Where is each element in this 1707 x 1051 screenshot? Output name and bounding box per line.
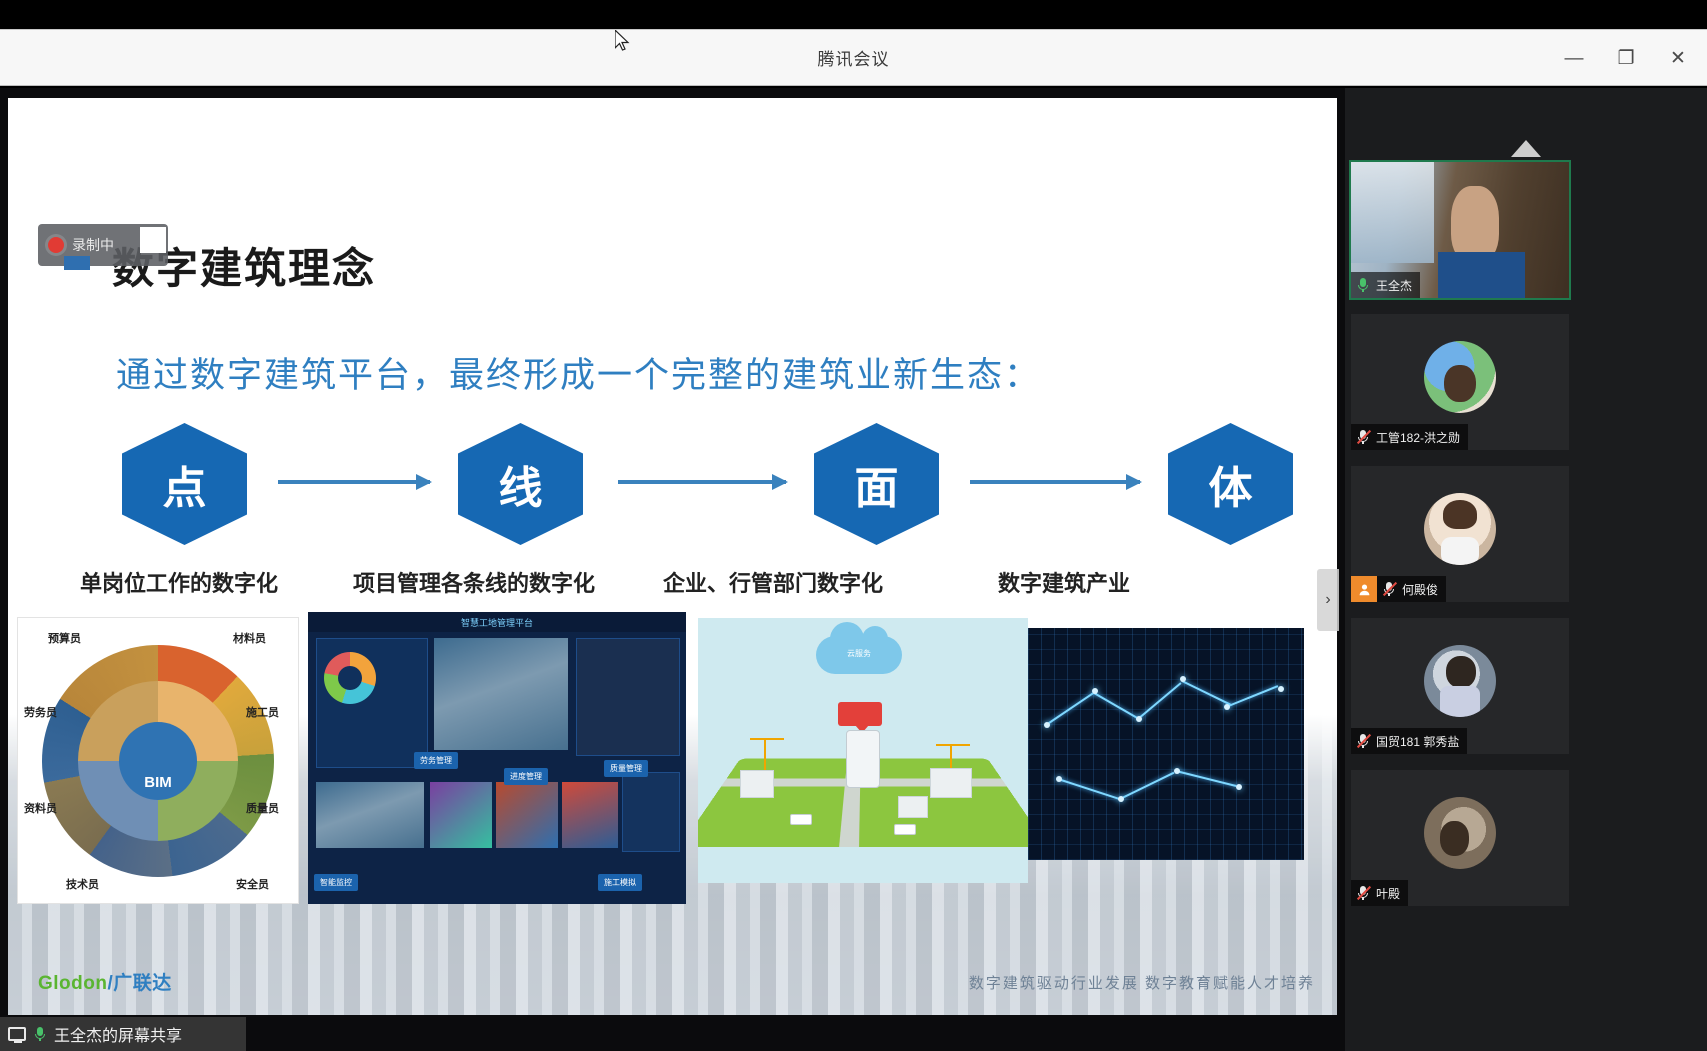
hexagon-line-glyph: 线 bbox=[499, 452, 543, 516]
mic-off-icon bbox=[1356, 733, 1370, 749]
bim-role-wheel-image: BIM 预算员 材料员 施工员 质量员 安全员 技术员 资料员 劳务员 bbox=[18, 618, 298, 903]
scroll-up-arrow-icon[interactable] bbox=[1511, 140, 1541, 157]
dashboard-thumb-4 bbox=[562, 782, 618, 848]
logo-text-en: Glodon bbox=[38, 973, 107, 994]
dashboard-tag-1: 劳务管理 bbox=[414, 752, 458, 769]
maximize-button[interactable]: ❐ bbox=[1615, 49, 1637, 68]
minimize-button[interactable]: — bbox=[1563, 49, 1585, 68]
truck-1 bbox=[790, 814, 812, 825]
shared-screen-region[interactable]: 数字建筑理念 通过数字建筑平台，最终形成一个完整的建筑业新生态： 点 线 面 体… bbox=[0, 88, 1345, 1051]
participant-name-3: 何殿俊 bbox=[1402, 581, 1438, 598]
dashboard-tag-2: 进度管理 bbox=[504, 768, 548, 785]
network-node-3 bbox=[1136, 716, 1142, 722]
share-status-bar: 王全杰的屏幕共享 bbox=[0, 1017, 246, 1051]
dashboard-tag-4: 智能监控 bbox=[314, 874, 358, 891]
dashboard-panel-right bbox=[576, 638, 680, 756]
meeting-window: 腾讯会议 — ❐ ✕ 数字建筑理念 通过数字建筑平台，最终形成一个完整的建筑业新… bbox=[0, 0, 1707, 1051]
participant-name-4: 国贸181 郭秀盐 bbox=[1376, 733, 1459, 750]
data-network-image bbox=[1028, 628, 1304, 860]
title-bar: 腾讯会议 — ❐ ✕ bbox=[0, 29, 1707, 86]
dashboard-thumb-2 bbox=[430, 782, 492, 848]
wheel-tag-2: 材料员 bbox=[233, 630, 266, 646]
hexagon-flow-diagram: 点 线 面 体 bbox=[108, 423, 1328, 548]
participant-tile-4[interactable]: 国贸181 郭秀盐 bbox=[1351, 618, 1569, 754]
participant-tile-5[interactable]: 叶殿 bbox=[1351, 770, 1569, 906]
network-node-6 bbox=[1278, 686, 1284, 692]
hexagon-plane: 面 bbox=[814, 423, 939, 545]
alert-tag-icon bbox=[838, 702, 882, 726]
avatar-3 bbox=[1424, 493, 1496, 565]
wheel-center-label: BIM bbox=[144, 774, 172, 791]
wheel-tag-3: 施工员 bbox=[246, 704, 279, 720]
presentation-slide: 数字建筑理念 通过数字建筑平台，最终形成一个完整的建筑业新生态： 点 线 面 体… bbox=[8, 98, 1337, 1015]
glodon-logo: Glodon/广联达 bbox=[38, 968, 172, 995]
participant-tile-1[interactable]: 王全杰 bbox=[1351, 162, 1569, 298]
cloud-construction-site-image: 云服务 bbox=[698, 618, 1028, 883]
avatar-2 bbox=[1424, 341, 1496, 413]
building-2 bbox=[930, 768, 972, 798]
mic-off-icon bbox=[1382, 581, 1396, 597]
avatar-4 bbox=[1424, 645, 1496, 717]
participant-namebar-2: 工管182-洪之勋 bbox=[1351, 424, 1468, 450]
dashboard-thumb-1 bbox=[316, 782, 424, 848]
participant-name-2: 工管182-洪之勋 bbox=[1376, 429, 1460, 446]
dashboard-header-bar: 智慧工地管理平台 bbox=[308, 612, 686, 632]
network-node-8 bbox=[1118, 796, 1124, 802]
flow-arrow-1-icon bbox=[278, 480, 430, 484]
participant-rail: 王全杰 工管182-洪之勋 何殿俊 bbox=[1345, 88, 1707, 1051]
crane-arm-2 bbox=[936, 744, 970, 746]
participant-tile-3[interactable]: 何殿俊 bbox=[1351, 466, 1569, 602]
chevron-right-icon[interactable]: › bbox=[1317, 569, 1339, 631]
flow-label-3: 企业、行管部门数字化 bbox=[663, 566, 883, 598]
hexagon-point: 点 bbox=[122, 423, 247, 545]
hexagon-line: 线 bbox=[458, 423, 583, 545]
wheel-tag-7: 资料员 bbox=[24, 800, 57, 816]
hexagon-plane-glyph: 面 bbox=[855, 452, 899, 516]
wheel-tag-6: 技术员 bbox=[66, 876, 99, 892]
share-status-label: 王全杰的屏幕共享 bbox=[54, 1022, 182, 1046]
participant-tile-2[interactable]: 工管182-洪之勋 bbox=[1351, 314, 1569, 450]
flow-label-4: 数字建筑产业 bbox=[998, 566, 1130, 598]
mic-off-icon bbox=[1356, 429, 1370, 445]
dashboard-thumb-3 bbox=[496, 782, 558, 848]
wheel-tag-4: 质量员 bbox=[246, 800, 279, 816]
hexagon-volume: 体 bbox=[1168, 423, 1293, 545]
recording-accent-block bbox=[64, 256, 90, 270]
network-node-10 bbox=[1236, 784, 1242, 790]
flow-arrow-2-icon bbox=[618, 480, 786, 484]
dashboard-tag-5: 施工模拟 bbox=[598, 874, 642, 891]
logo-text-cn: /广联达 bbox=[107, 973, 171, 994]
network-node-9 bbox=[1174, 768, 1180, 774]
truck-2 bbox=[894, 824, 916, 835]
avatar-5 bbox=[1424, 797, 1496, 869]
recording-label: 录制中 bbox=[72, 235, 114, 255]
cloud-label: 云服务 bbox=[847, 648, 871, 659]
dashboard-render-main bbox=[434, 638, 568, 750]
building-1 bbox=[740, 770, 774, 798]
network-node-1 bbox=[1044, 722, 1050, 728]
server-cabinet-icon bbox=[846, 730, 880, 788]
dashboard-panel-bottom-right bbox=[622, 772, 680, 852]
participant-namebar-5: 叶殿 bbox=[1351, 880, 1408, 906]
network-node-2 bbox=[1092, 688, 1098, 694]
dashboard-donut-chart bbox=[324, 652, 376, 704]
participant-name-5: 叶殿 bbox=[1376, 885, 1400, 902]
smart-site-dashboard-image: 智慧工地管理平台 劳务管理 进度管理 质量管理 智能监控 施工模拟 bbox=[308, 612, 686, 904]
cloud-icon: 云服务 bbox=[816, 636, 902, 674]
dashboard-tag-3: 质量管理 bbox=[604, 760, 648, 777]
participant-name-1: 王全杰 bbox=[1376, 277, 1412, 294]
network-node-5 bbox=[1224, 704, 1230, 710]
mic-on-icon bbox=[1356, 277, 1370, 293]
monitor-icon bbox=[8, 1027, 26, 1041]
flow-label-1: 单岗位工作的数字化 bbox=[80, 566, 278, 598]
flow-labels: 单岗位工作的数字化 项目管理各条线的数字化 企业、行管部门数字化 数字建筑产业 bbox=[8, 566, 1337, 600]
crane-arm-1 bbox=[750, 738, 784, 740]
flow-arrow-3-icon bbox=[970, 480, 1140, 484]
slide-footnote: 数字建筑驱动行业发展 数字教育赋能人才培养 bbox=[969, 972, 1315, 993]
dashboard-header-title: 智慧工地管理平台 bbox=[461, 616, 533, 629]
window-controls: — ❐ ✕ bbox=[1563, 30, 1689, 87]
hexagon-volume-glyph: 体 bbox=[1209, 452, 1253, 516]
host-badge-icon bbox=[1351, 576, 1377, 602]
wheel-tag-1: 预算员 bbox=[48, 630, 81, 646]
network-grid-overlay bbox=[1028, 628, 1304, 860]
mouse-cursor-icon bbox=[615, 30, 631, 54]
window-title: 腾讯会议 bbox=[818, 45, 890, 70]
close-button[interactable]: ✕ bbox=[1667, 49, 1689, 68]
mic-on-icon bbox=[33, 1026, 47, 1042]
wheel-tag-8: 劳务员 bbox=[24, 704, 57, 720]
network-node-7 bbox=[1056, 776, 1062, 782]
flow-label-2: 项目管理各条线的数字化 bbox=[353, 566, 595, 598]
participant-namebar-4: 国贸181 郭秀盐 bbox=[1351, 728, 1467, 754]
wheel-center-hub: BIM bbox=[119, 722, 197, 800]
recording-stop-icon[interactable] bbox=[140, 227, 166, 253]
mic-off-icon bbox=[1356, 885, 1370, 901]
network-node-4 bbox=[1180, 676, 1186, 682]
participant-namebar-1: 王全杰 bbox=[1351, 272, 1420, 298]
hexagon-point-glyph: 点 bbox=[163, 452, 207, 516]
wheel-tag-5: 安全员 bbox=[236, 876, 269, 892]
record-dot-icon bbox=[48, 237, 64, 253]
building-3 bbox=[898, 796, 928, 818]
participant-namebar-3: 何殿俊 bbox=[1377, 576, 1446, 602]
slide-subtitle: 通过数字建筑平台，最终形成一个完整的建筑业新生态： bbox=[116, 347, 1041, 398]
slide-image-strip: BIM 预算员 材料员 施工员 质量员 安全员 技术员 资料员 劳务员 智慧工地… bbox=[8, 618, 1337, 928]
